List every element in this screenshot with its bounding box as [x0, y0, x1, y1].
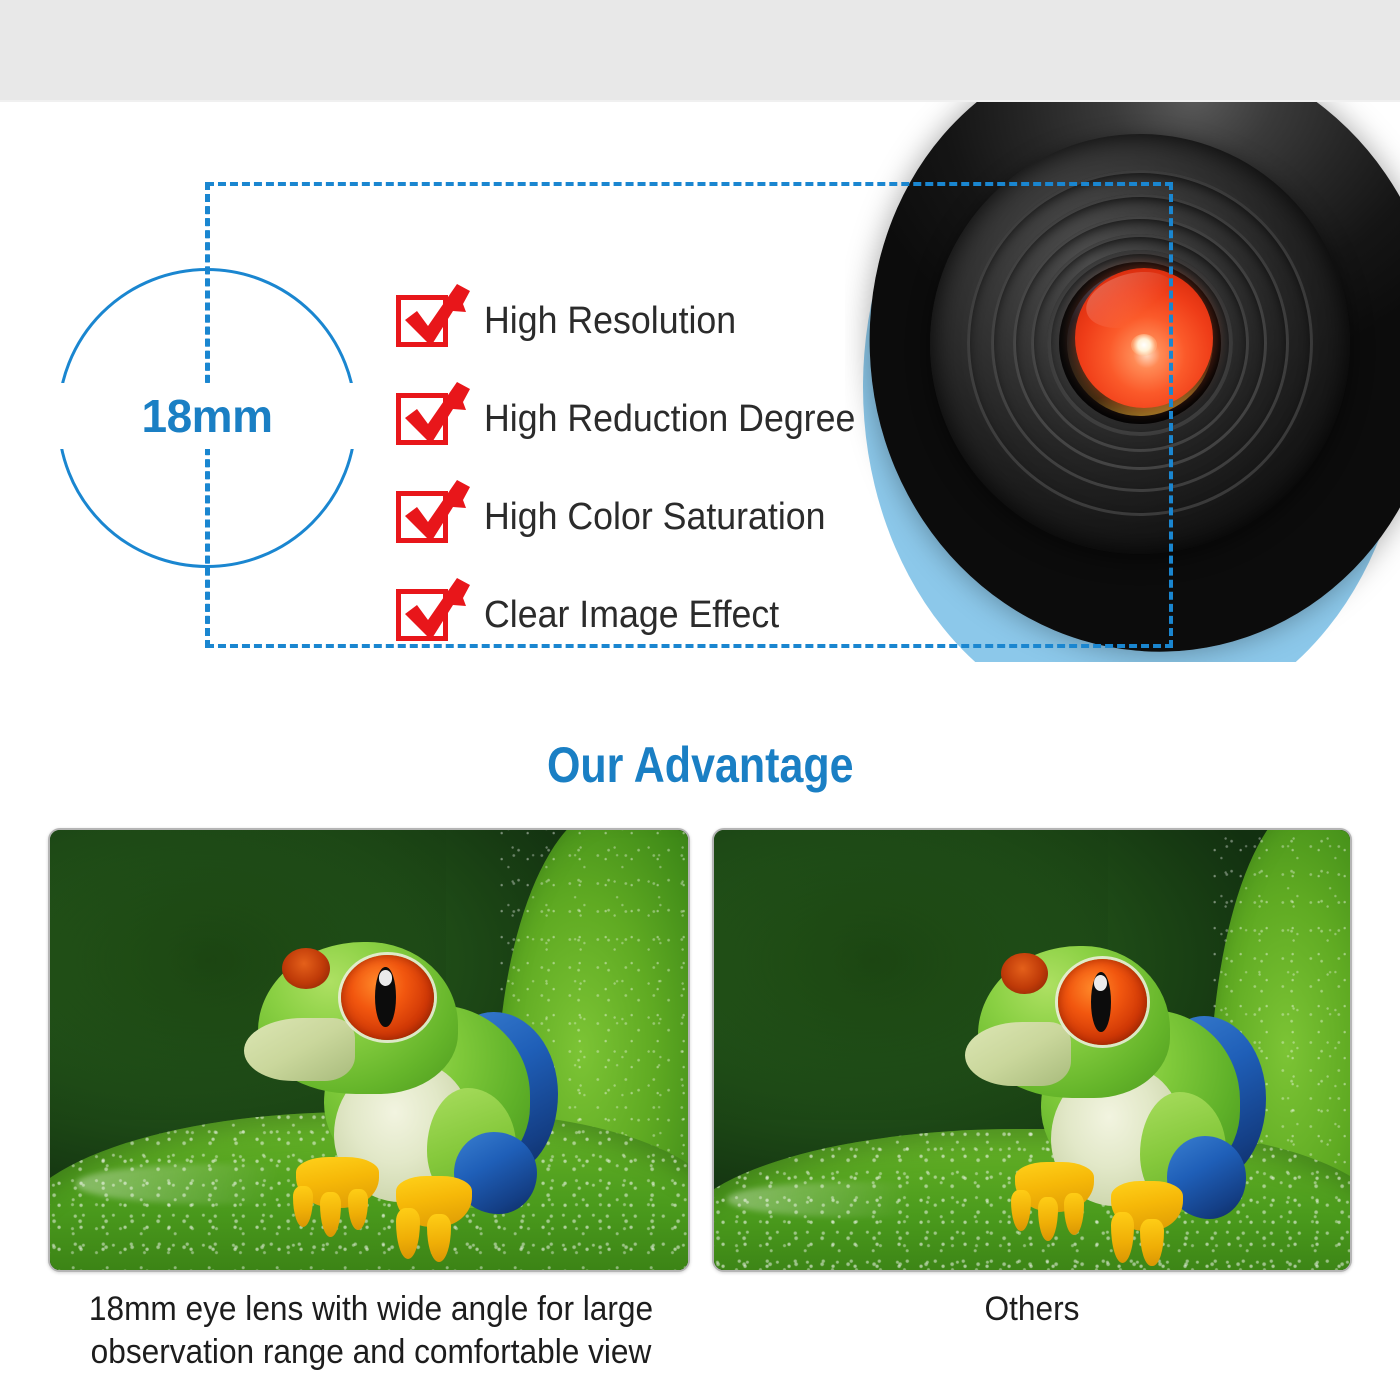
frog-toe	[320, 1192, 341, 1236]
section-title-text: Our Advantage	[547, 736, 854, 794]
tree-frog	[968, 940, 1299, 1257]
feature-label: Clear Image Effect	[484, 594, 779, 637]
frog-toe	[1011, 1190, 1031, 1231]
check-mark-icon	[387, 376, 473, 456]
caption-others: Others	[734, 1288, 1329, 1331]
checkbox-checked-icon	[396, 393, 448, 445]
feature-label: High Color Saturation	[484, 496, 826, 539]
header-band	[0, 0, 1400, 102]
product-feature-page: Comfortable Viewing Experience 18mm High…	[0, 0, 1400, 1400]
frog-scene	[50, 830, 688, 1270]
frog-far-eye	[1001, 953, 1047, 994]
frog-scene	[714, 830, 1350, 1270]
frog-toe	[293, 1186, 314, 1227]
feature-checklist: High Resolution High Reduction Degree Hi…	[396, 272, 916, 664]
lens-specular-highlight	[1131, 334, 1157, 356]
section-title: Our Advantage	[0, 736, 1400, 794]
feature-label: High Reduction Degree	[484, 398, 855, 441]
eye-lens-diameter-label: 18mm	[57, 383, 357, 449]
frog-toe	[1111, 1212, 1134, 1263]
check-mark-icon	[387, 278, 473, 358]
binocular-eyepiece-photo	[845, 102, 1400, 662]
comparison-photo-others	[712, 828, 1352, 1272]
frog-eye-glint	[1094, 975, 1107, 991]
feature-item: High Reduction Degree	[396, 370, 916, 468]
checkbox-checked-icon	[396, 295, 448, 347]
frog-toe	[1064, 1193, 1084, 1234]
frog-toe	[1038, 1197, 1058, 1241]
frog-snout	[244, 1018, 354, 1081]
check-mark-icon	[387, 474, 473, 554]
feature-item: Clear Image Effect	[396, 566, 916, 664]
feature-label: High Resolution	[484, 300, 736, 343]
caption-wide-angle: 18mm eye lens with wide angle for large …	[50, 1288, 692, 1374]
feature-item: High Resolution	[396, 272, 916, 370]
check-mark-icon	[387, 572, 473, 652]
checkbox-checked-icon	[396, 491, 448, 543]
checkbox-checked-icon	[396, 589, 448, 641]
tree-frog	[248, 936, 593, 1253]
feature-item: High Color Saturation	[396, 468, 916, 566]
frog-toe	[396, 1208, 420, 1259]
leaf-highlight	[727, 1182, 981, 1217]
frog-snout	[965, 1022, 1071, 1085]
frog-toe	[348, 1189, 369, 1230]
comparison-photo-wide-angle	[48, 828, 690, 1272]
